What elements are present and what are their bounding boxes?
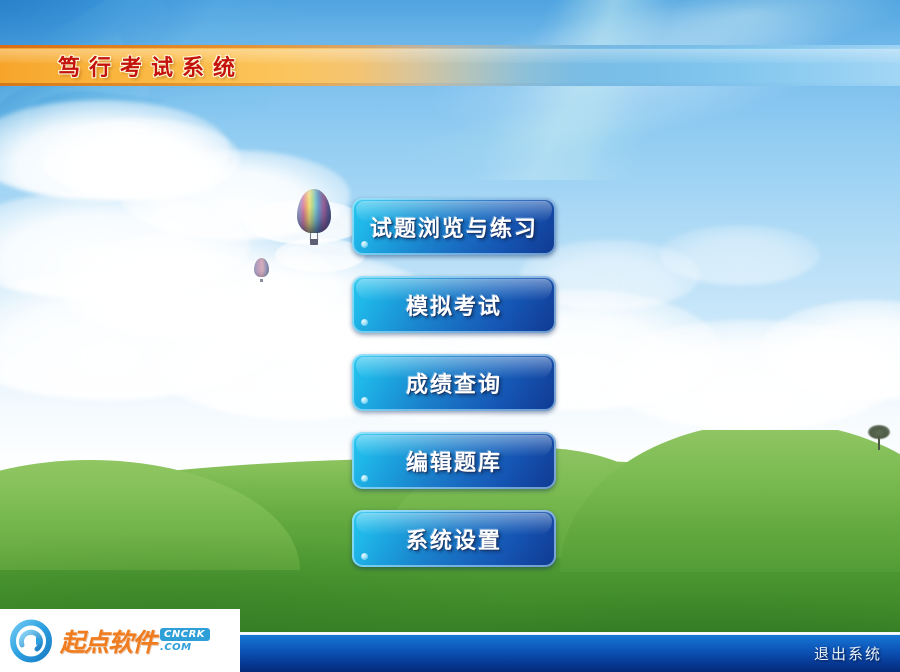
lone-tree-icon [866,425,892,453]
cloud [660,225,820,285]
watermark-badge-top: CNCRK [160,628,210,641]
menu-button-label: 成绩查询 [406,367,502,399]
hot-air-balloon-icon [297,189,331,247]
page-title: 笃行考试系统 [58,50,244,82]
watermark-badge-bottom: .COM [160,642,192,653]
hot-air-balloon-distant-icon [254,258,269,283]
menu-button-label: 编辑题库 [406,445,502,477]
menu-button-mock-exam[interactable]: 模拟考试 [352,276,556,333]
exam-system-app: 笃行考试系统 试题浏览与练习 模拟考试 成绩查询 编辑题库 系统设置 退出系统 [0,0,900,672]
balloon-basket [260,279,263,282]
tree-trunk [878,436,880,450]
title-bar-top-edge [0,45,900,48]
watermark-banner: 起点软件 CNCRK .COM [0,609,240,672]
menu-button-system-settings[interactable]: 系统设置 [352,510,556,567]
watermark-text: 起点软件 CNCRK .COM [60,623,210,659]
balloon-basket [310,239,318,245]
menu-button-label: 模拟考试 [406,289,502,321]
main-menu: 试题浏览与练习 模拟考试 成绩查询 编辑题库 系统设置 [352,198,556,588]
exit-system-button[interactable]: 退出系统 [814,635,882,672]
watermark-badge: CNCRK .COM [160,628,210,653]
menu-button-label: 试题浏览与练习 [370,211,538,243]
balloon-shading [297,189,331,233]
menu-button-label: 系统设置 [406,523,502,555]
menu-button-score-query[interactable]: 成绩查询 [352,354,556,411]
balloon-envelope [254,258,269,277]
menu-button-browse-practice[interactable]: 试题浏览与练习 [352,198,556,255]
circular-arrow-logo-icon [9,619,53,663]
title-bar-bottom-edge [0,83,900,86]
watermark-brand: 起点软件 [60,623,156,659]
menu-button-edit-question-bank[interactable]: 编辑题库 [352,432,556,489]
exit-system-label: 退出系统 [814,643,882,664]
